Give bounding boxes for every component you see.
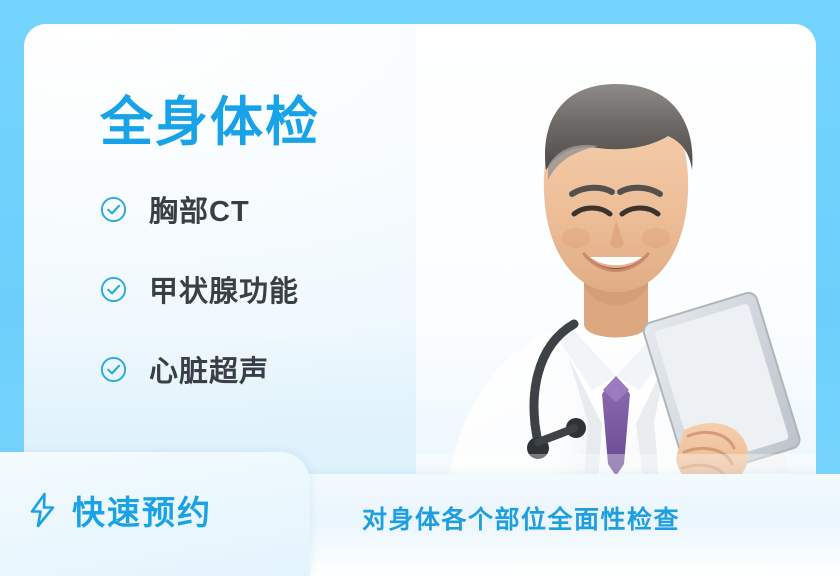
list-item: 胸部CT [100,185,460,233]
feature-label: 胸部CT [149,188,250,230]
feature-label: 心脏超声 [149,348,269,390]
page-title: 全身体检 [100,94,460,151]
doctor-photo [416,24,816,514]
check-circle-icon [100,196,127,223]
promo-content: 全身体检 胸部CT [100,94,460,393]
quick-booking-button[interactable]: 快速预约 [0,452,310,576]
list-item: 甲状腺功能 [100,265,460,313]
health-checkup-promo-poster: 全身体检 胸部CT [0,0,840,576]
promo-card: 全身体检 胸部CT [24,24,816,514]
lightning-bolt-icon [28,492,58,528]
quick-booking-inner: 快速预约 [28,486,212,534]
bottom-cta-bar: 对身体各个部位全面性检查 快速预约 [0,452,840,576]
check-circle-icon [100,276,127,303]
quick-booking-label: 快速预约 [72,486,212,534]
list-item: 心脏超声 [100,345,460,393]
check-circle-icon [100,356,127,383]
feature-label: 甲状腺功能 [149,268,299,310]
promo-description: 对身体各个部位全面性检查 [362,500,680,536]
feature-list: 胸部CT 甲状腺功能 [100,185,460,393]
